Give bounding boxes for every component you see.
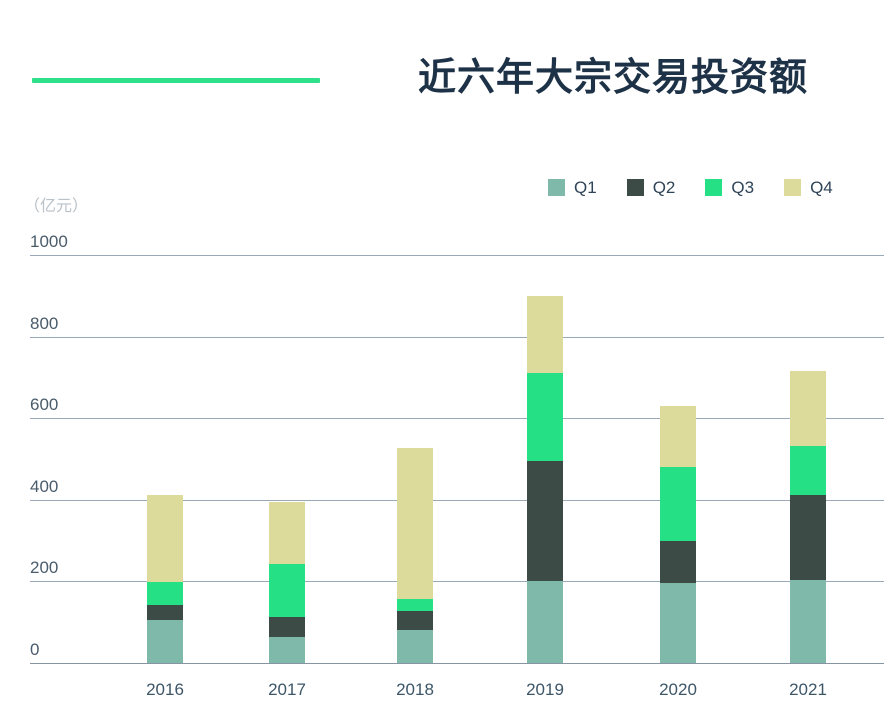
- bar-segment-2017-q2[interactable]: [269, 617, 305, 637]
- bar-segment-2019-q1[interactable]: [527, 581, 563, 663]
- y-axis-tick-label: 600: [30, 395, 58, 415]
- x-axis-tick-label-2020: 2020: [633, 680, 723, 700]
- bar-segment-2016-q4[interactable]: [147, 495, 183, 581]
- bar-segment-2019-q4[interactable]: [527, 296, 563, 373]
- bar-2021[interactable]: [790, 0, 826, 663]
- bar-2019[interactable]: [527, 0, 563, 663]
- x-axis-tick-label-2016: 2016: [120, 680, 210, 700]
- y-axis-tick-label: 400: [30, 477, 58, 497]
- bar-segment-2018-q4[interactable]: [397, 448, 433, 598]
- bar-segment-2021-q4[interactable]: [790, 371, 826, 446]
- x-axis-tick-label-2018: 2018: [370, 680, 460, 700]
- bar-segment-2021-q3[interactable]: [790, 446, 826, 495]
- bar-segment-2020-q4[interactable]: [660, 406, 696, 466]
- bar-segment-2017-q1[interactable]: [269, 637, 305, 663]
- bar-2017[interactable]: [269, 0, 305, 663]
- bar-segment-2021-q1[interactable]: [790, 580, 826, 663]
- bar-segment-2021-q2[interactable]: [790, 495, 826, 580]
- bar-segment-2018-q3[interactable]: [397, 599, 433, 611]
- bar-2018[interactable]: [397, 0, 433, 663]
- bar-segment-2019-q3[interactable]: [527, 373, 563, 461]
- bar-segment-2016-q3[interactable]: [147, 582, 183, 605]
- bar-segment-2017-q4[interactable]: [269, 502, 305, 564]
- bar-2020[interactable]: [660, 0, 696, 663]
- x-axis-tick-label-2019: 2019: [500, 680, 590, 700]
- bar-segment-2016-q1[interactable]: [147, 620, 183, 663]
- bar-segment-2016-q2[interactable]: [147, 605, 183, 621]
- y-axis-tick-label: 800: [30, 314, 58, 334]
- bar-segment-2018-q2[interactable]: [397, 611, 433, 631]
- gridline-0: [30, 663, 884, 664]
- bar-2016[interactable]: [147, 0, 183, 663]
- chart-plot-area: 10008006004002000 2016201720182019202020…: [0, 0, 896, 718]
- x-axis-tick-label-2021: 2021: [763, 680, 853, 700]
- bar-segment-2018-q1[interactable]: [397, 630, 433, 663]
- bar-segment-2020-q3[interactable]: [660, 467, 696, 541]
- y-axis-tick-label: 1000: [30, 232, 68, 252]
- y-axis-tick-label: 0: [30, 640, 39, 660]
- bar-segment-2020-q2[interactable]: [660, 541, 696, 583]
- bar-segment-2020-q1[interactable]: [660, 583, 696, 663]
- x-axis-tick-label-2017: 2017: [242, 680, 332, 700]
- bar-segment-2019-q2[interactable]: [527, 461, 563, 582]
- bar-segment-2017-q3[interactable]: [269, 564, 305, 617]
- y-axis-tick-label: 200: [30, 558, 58, 578]
